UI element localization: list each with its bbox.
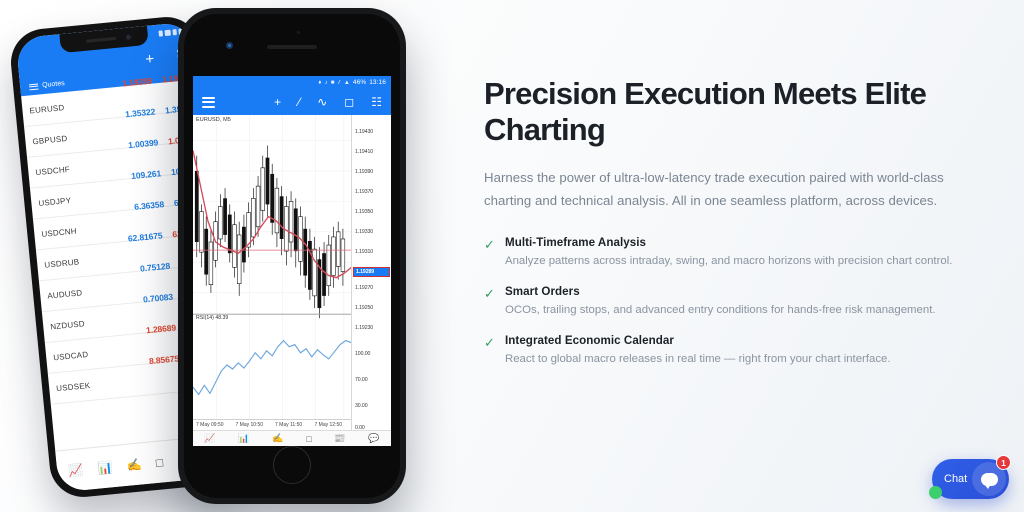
back-phone-menu[interactable]: Quotes xyxy=(29,79,65,91)
feature-title: Smart Orders xyxy=(505,285,936,298)
quote-bid: 6.36358 xyxy=(134,199,165,212)
price-tick: 1.19350 xyxy=(355,209,373,215)
check-icon: ✓ xyxy=(484,334,496,368)
quote-symbol: EURUSD xyxy=(29,102,70,115)
price-tick: 1.19310 xyxy=(355,249,373,255)
price-tick: 1.19230 xyxy=(355,325,373,331)
earpiece-speaker xyxy=(86,37,116,43)
earpiece-speaker xyxy=(267,45,317,49)
list-item: ✓ Smart Orders OCOs, trailing stops, and… xyxy=(484,285,974,319)
quote-symbol: USDSEK xyxy=(56,380,97,393)
quote-bid: 109.261 xyxy=(131,168,162,181)
quote-symbol: USDRUB xyxy=(44,256,85,269)
plus-icon[interactable]: + xyxy=(145,50,155,68)
charts-icon[interactable]: 📊 xyxy=(97,460,113,475)
feature-list: ✓ Multi-Timeframe Analysis Analyze patte… xyxy=(484,236,974,368)
chart-toolbar[interactable]: + ⁄ ∿ ◻ ☷ xyxy=(193,89,391,115)
price-tick: 1.19330 xyxy=(355,229,373,235)
quote-symbol: USDCAD xyxy=(53,349,94,362)
chart-symbol-label: EURUSD, M5 xyxy=(196,117,231,123)
price-tick: 1.19410 xyxy=(355,149,373,155)
history-icon[interactable]: □ xyxy=(306,434,311,444)
chat-icon[interactable]: 💬 xyxy=(368,433,379,444)
list-item: ✓ Integrated Economic Calendar React to … xyxy=(484,334,974,368)
price-tick: 1.19370 xyxy=(355,189,373,195)
front-camera xyxy=(126,34,131,39)
price-tick: 1.19250 xyxy=(355,305,373,311)
news-icon[interactable]: 📰 xyxy=(334,433,345,444)
price-tick: 1.19270 xyxy=(355,285,373,291)
front-phone-bezel: ♦ ♪ ■ 7 ▲ 46% 13:16 + ⁄ ∿ ◻ ☷ xyxy=(184,14,400,498)
signal-strength: 7 xyxy=(337,80,340,86)
signal-bar-icon xyxy=(158,30,163,36)
quotes-icon[interactable]: 📈 xyxy=(204,433,215,444)
feature-description: Analyze patterns across intraday, swing,… xyxy=(505,252,952,270)
quote-symbol: GBPUSD xyxy=(32,133,73,146)
chat-widget-button[interactable]: Chat 1 xyxy=(932,459,1009,499)
rsi-tick: 70.00 xyxy=(355,377,367,383)
wifi-icon xyxy=(164,30,171,37)
quote-bid: 62.81675 xyxy=(127,230,162,243)
quote-bid: 1.28689 xyxy=(146,322,177,335)
feature-description: React to global macro releases in real t… xyxy=(505,350,891,368)
feature-body: Multi-Timeframe Analysis Analyze pattern… xyxy=(505,236,952,270)
quote-symbol: NZDUSD xyxy=(50,318,91,331)
menu-icon[interactable] xyxy=(202,94,215,110)
rsi-tick: 30.00 xyxy=(355,403,367,409)
objects-icon[interactable]: ◻ xyxy=(344,95,354,109)
feature-title: Integrated Economic Calendar xyxy=(505,334,891,347)
indicators-icon[interactable]: ∿ xyxy=(317,95,327,109)
chat-label: Chat xyxy=(944,473,967,485)
marketing-content: Precision Execution Meets Elite Charting… xyxy=(484,76,974,383)
status-time: 13:16 xyxy=(369,79,386,86)
new-chart-icon[interactable]: ☷ xyxy=(371,95,382,109)
quote-symbol: USDJPY xyxy=(38,195,79,208)
rsi-indicator-label: RSI(14) 48.39 xyxy=(196,315,228,321)
plus-icon[interactable]: + xyxy=(274,95,281,109)
page-title: Precision Execution Meets Elite Charting xyxy=(484,76,974,148)
chart-canvas[interactable]: EURUSD, M5 xyxy=(193,115,391,430)
front-phone-mockup: ♦ ♪ ■ 7 ▲ 46% 13:16 + ⁄ ∿ ◻ ☷ xyxy=(178,8,406,504)
history-icon[interactable]: □ xyxy=(155,455,164,470)
feature-description: OCOs, trailing stops, and advanced entry… xyxy=(505,301,936,319)
battery-icon xyxy=(172,29,177,35)
quote-bid: 1.19285 xyxy=(122,76,153,89)
time-tick: 7 May 10:50 xyxy=(233,422,273,428)
sdcard-icon: ■ xyxy=(331,80,335,86)
feature-body: Integrated Economic Calendar React to gl… xyxy=(505,334,891,368)
front-camera xyxy=(226,42,233,49)
device-mockups: + ⋮ Quotes EURUSD 1.19285 1.19289 xyxy=(0,0,460,512)
network-icon: ▲ xyxy=(344,80,350,86)
status-bar: ♦ ♪ ■ 7 ▲ 46% 13:16 xyxy=(193,76,391,89)
current-price-label: 1.19289 xyxy=(353,267,390,277)
hamburger-icon[interactable] xyxy=(29,82,39,92)
chart-tools[interactable]: + ⁄ ∿ ◻ ☷ xyxy=(274,95,382,109)
chat-unread-badge: 1 xyxy=(996,455,1011,470)
check-icon: ✓ xyxy=(484,236,496,270)
phone-top-bezel xyxy=(184,14,400,76)
time-tick: 7 May 12:50 xyxy=(312,422,352,428)
trade-icon[interactable]: ✍ xyxy=(126,457,142,472)
feature-body: Smart Orders OCOs, trailing stops, and a… xyxy=(505,285,936,319)
time-axis: 7 May 09:50 7 May 10:50 7 May 11:50 7 Ma… xyxy=(193,419,351,430)
charts-icon[interactable]: 📊 xyxy=(238,433,249,444)
crosshair-icon[interactable]: ⁄ xyxy=(298,95,300,109)
front-phone-bottom-nav[interactable]: 📈 📊 ✍ □ 📰 💬 xyxy=(193,430,391,446)
quote-bid: 1.35322 xyxy=(125,106,156,119)
quote-symbol: USDCNH xyxy=(41,226,82,239)
bluetooth-icon: ♦ xyxy=(318,80,321,86)
quote-symbol: USDCHF xyxy=(35,164,76,177)
time-tick: 7 May 09:50 xyxy=(193,422,233,428)
quotes-icon[interactable]: 📈 xyxy=(68,463,84,478)
price-axis: 1.19430 1.19410 1.19390 1.19370 1.19350 … xyxy=(351,115,391,430)
price-tick: 1.19430 xyxy=(355,129,373,135)
back-phone-menu-label: Quotes xyxy=(42,80,65,89)
trade-icon[interactable]: ✍ xyxy=(272,433,283,444)
online-status-dot xyxy=(929,486,942,499)
front-phone-screen: ♦ ♪ ■ 7 ▲ 46% 13:16 + ⁄ ∿ ◻ ☷ xyxy=(193,76,391,430)
quote-bid: 0.75128 xyxy=(140,261,171,274)
check-icon: ✓ xyxy=(484,285,496,319)
quote-bid: 0.70083 xyxy=(143,292,174,305)
proximity-sensor xyxy=(297,31,300,34)
quote-symbol: AUDUSD xyxy=(47,287,88,300)
home-button[interactable] xyxy=(273,446,311,484)
list-item: ✓ Multi-Timeframe Analysis Analyze patte… xyxy=(484,236,974,270)
feature-title: Multi-Timeframe Analysis xyxy=(505,236,952,249)
rsi-tick: 100.00 xyxy=(355,351,370,357)
mute-icon: ♪ xyxy=(325,80,328,86)
battery-percent: 46% xyxy=(353,79,366,86)
page-subtitle: Harness the power of ultra-low-latency t… xyxy=(484,167,946,212)
time-tick: 7 May 11:50 xyxy=(272,422,312,428)
quote-bid: 1.00399 xyxy=(128,137,159,150)
quote-bid: 8.85675 xyxy=(149,353,180,366)
price-tick: 1.19390 xyxy=(355,169,373,175)
